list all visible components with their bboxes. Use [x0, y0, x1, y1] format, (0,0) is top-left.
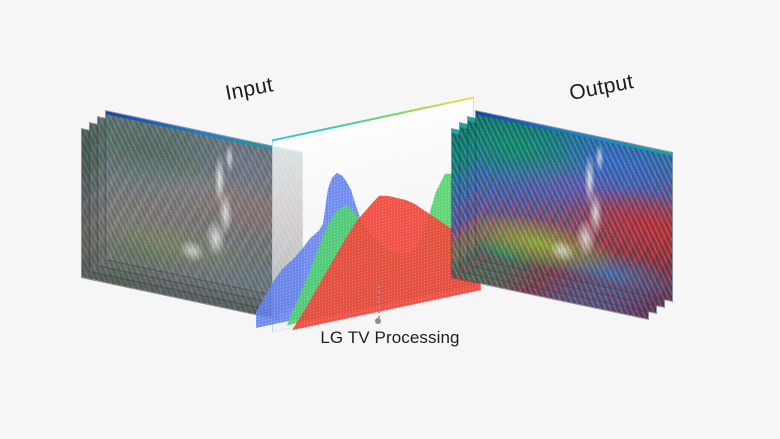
output-tv-stack	[452, 128, 682, 318]
caption: LG TV Processing	[0, 328, 780, 348]
caption-leader-dot	[375, 318, 381, 324]
caption-leader-line	[378, 286, 380, 322]
illustration-canvas: Input Output LG TV Processing	[0, 0, 780, 439]
input-label: Input	[223, 73, 275, 106]
caption-text: LG TV Processing	[320, 328, 459, 348]
output-label: Output	[567, 70, 635, 106]
